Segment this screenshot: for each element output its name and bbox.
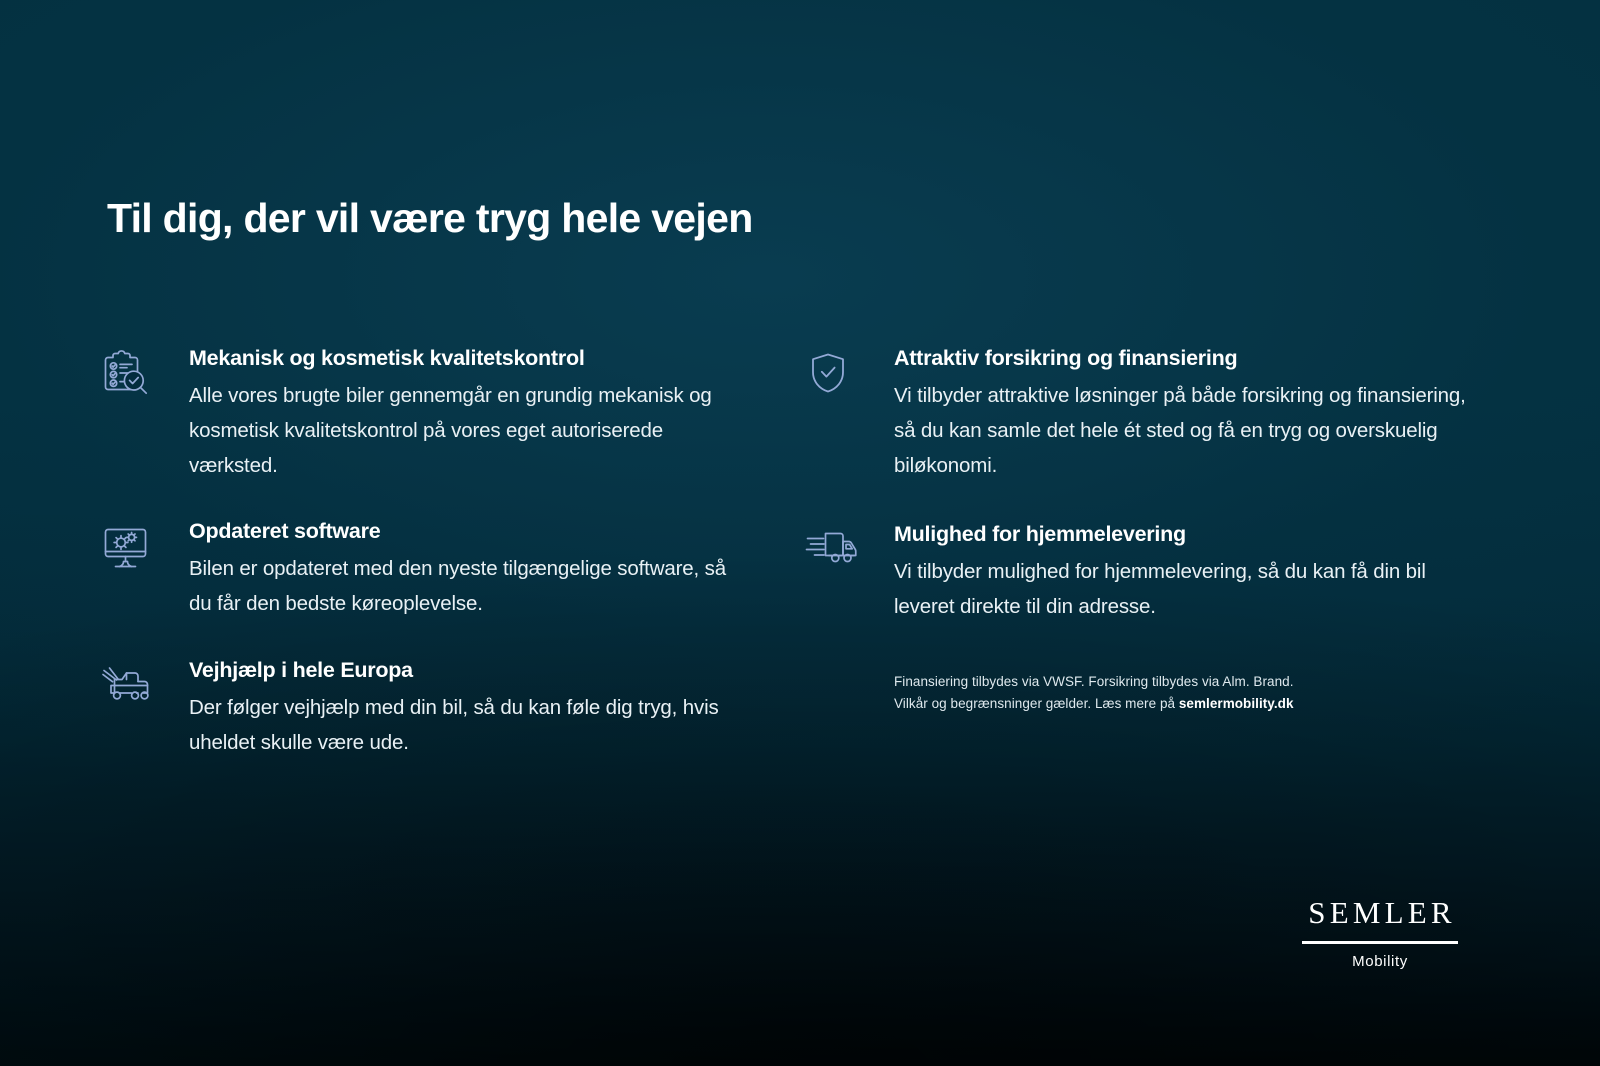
feature-text: Vejhjælp i hele Europa Der følger vejhjæ…: [162, 657, 750, 761]
feature-title: Mekanisk og kosmetisk kvalitetskontrol: [189, 345, 750, 372]
monitor-gears-icon: [100, 522, 162, 574]
logo-divider: [1302, 941, 1458, 944]
feature-description: Bilen er opdateret med den nyeste tilgæn…: [189, 552, 750, 622]
clipboard-check-magnifier-icon: [100, 349, 162, 401]
feature-description: Vi tilbyder attraktive løsninger på både…: [894, 379, 1485, 484]
page-content: Til dig, der vil være tryg hele vejen: [0, 0, 1600, 1066]
page-title: Til dig, der vil være tryg hele vejen: [107, 193, 753, 243]
fineprint-line-2: Vilkår og begrænsninger gælder. Læs mere…: [894, 693, 1414, 715]
semler-mobility-logo: SEMLER Mobility: [1300, 897, 1460, 970]
tow-truck-icon: [100, 661, 162, 713]
feature-opdateret-software: Opdateret software Bilen er opdateret me…: [100, 518, 750, 622]
feature-mekanisk-kvalitetskontrol: Mekanisk og kosmetisk kvalitetskontrol A…: [100, 345, 750, 483]
feature-description: Der følger vejhjælp med din bil, så du k…: [189, 691, 750, 761]
left-feature-column: Mekanisk og kosmetisk kvalitetskontrol A…: [100, 345, 750, 761]
fineprint-line-1: Finansiering tilbydes via VWSF. Forsikri…: [894, 671, 1414, 693]
feature-text: Mekanisk og kosmetisk kvalitetskontrol A…: [162, 345, 750, 483]
delivery-truck-icon: [805, 525, 867, 577]
feature-title: Opdateret software: [189, 518, 750, 545]
semlermobility-link[interactable]: semlermobility.dk: [1179, 696, 1294, 711]
feature-title: Attraktiv forsikring og finansiering: [894, 345, 1485, 372]
right-feature-column: Attraktiv forsikring og finansiering Vi …: [805, 345, 1485, 625]
fineprint-line-2-text: Vilkår og begrænsninger gælder. Læs mere…: [894, 696, 1179, 711]
legal-fineprint: Finansiering tilbydes via VWSF. Forsikri…: [894, 671, 1414, 715]
feature-description: Vi tilbyder mulighed for hjemmelevering,…: [894, 555, 1485, 625]
feature-hjemmelevering: Mulighed for hjemmelevering Vi tilbyder …: [805, 521, 1485, 625]
feature-description: Alle vores brugte biler gennemgår en gru…: [189, 379, 750, 484]
shield-check-icon: [805, 349, 867, 401]
feature-title: Mulighed for hjemmelevering: [894, 521, 1485, 548]
logo-subtitle: Mobility: [1300, 953, 1460, 970]
feature-title: Vejhjælp i hele Europa: [189, 657, 750, 684]
feature-text: Attraktiv forsikring og finansiering Vi …: [867, 345, 1485, 483]
feature-vejhjaelp-europa: Vejhjælp i hele Europa Der følger vejhjæ…: [100, 657, 750, 761]
feature-text: Opdateret software Bilen er opdateret me…: [162, 518, 750, 622]
feature-text: Mulighed for hjemmelevering Vi tilbyder …: [867, 521, 1485, 625]
logo-wordmark: SEMLER: [1300, 897, 1460, 928]
feature-forsikring-finansiering: Attraktiv forsikring og finansiering Vi …: [805, 345, 1485, 483]
